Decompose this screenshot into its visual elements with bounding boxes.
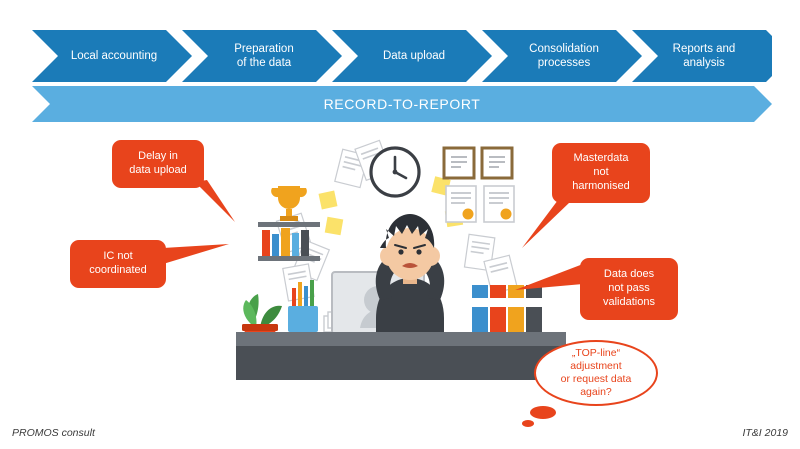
callout-tail-ic <box>163 240 273 290</box>
thought-bubble-dot-small <box>522 420 534 427</box>
process-step-2-label: Preparationof the data <box>202 42 326 70</box>
process-step-4-label: Consolidationprocesses <box>502 42 626 70</box>
stressed-person <box>376 214 445 340</box>
thought-bubble-label: „TOP-line“adjustmentor request dataagain… <box>561 347 632 400</box>
callout-ic-not-coordinated-label: IC notcoordinated <box>76 250 160 278</box>
process-step-4[interactable]: Consolidationprocesses <box>482 30 642 82</box>
process-step-5[interactable]: Reports andanalysis <box>632 30 772 82</box>
thought-bubble-dot-large <box>530 406 556 419</box>
process-step-1-label: Local accounting <box>52 49 176 63</box>
process-chevron-row: Local accounting Preparationof the data … <box>32 30 772 82</box>
callout-tail-delay <box>195 180 275 240</box>
record-to-report-ribbon: RECORD-TO-REPORT <box>32 86 772 122</box>
thought-bubble-top-line-adjustment[interactable]: „TOP-line“adjustmentor request dataagain… <box>534 340 658 406</box>
callout-data-does-not-pass-validations-label: Data doesnot passvalidations <box>586 268 672 309</box>
callout-ic-not-coordinated[interactable]: IC notcoordinated <box>70 240 166 288</box>
ribbon-label: RECORD-TO-REPORT <box>324 96 481 112</box>
callout-delay-in-data-upload[interactable]: Delay indata upload <box>112 140 204 188</box>
callout-tail-masterdata <box>498 200 578 260</box>
callout-data-does-not-pass-validations[interactable]: Data doesnot passvalidations <box>580 258 678 320</box>
process-step-3[interactable]: Data upload <box>332 30 492 82</box>
diagram-canvas: Local accounting Preparationof the data … <box>0 0 800 449</box>
process-step-1[interactable]: Local accounting <box>32 30 192 82</box>
footer-left-label: PROMOS consult <box>12 427 95 439</box>
process-step-5-label: Reports andanalysis <box>652 42 756 70</box>
wall-clock-icon <box>371 148 419 196</box>
process-step-2[interactable]: Preparationof the data <box>182 30 342 82</box>
footer-right-label: IT&I 2019 <box>742 427 788 439</box>
callout-masterdata-not-harmonised-label: Masterdatanotharmonised <box>558 152 644 193</box>
callout-masterdata-not-harmonised[interactable]: Masterdatanotharmonised <box>552 143 650 203</box>
desk <box>236 332 566 380</box>
process-step-3-label: Data upload <box>352 49 476 63</box>
callout-delay-in-data-upload-label: Delay indata upload <box>118 150 198 178</box>
